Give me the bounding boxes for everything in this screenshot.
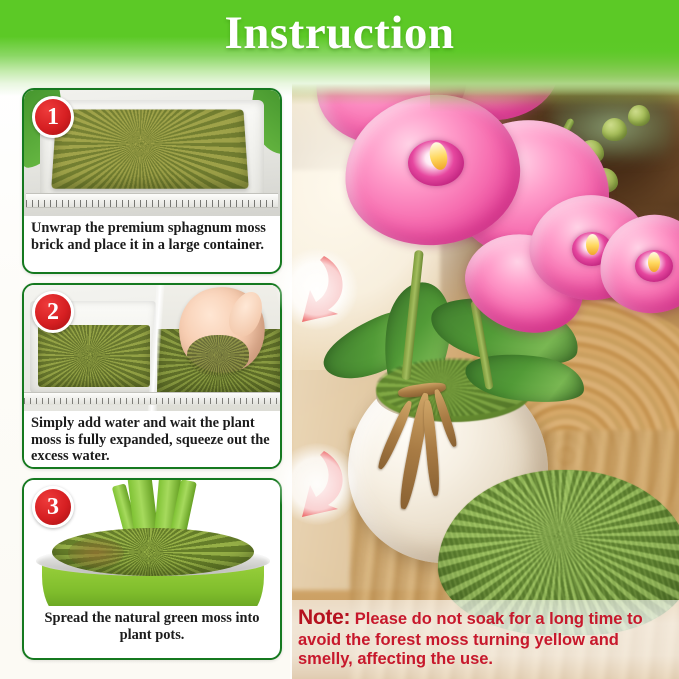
ruler-ticks (26, 200, 278, 207)
step-badge-3: 3 (32, 486, 74, 528)
arrow-glow (276, 443, 358, 525)
step-3-caption: Spread the natural green moss into plant… (24, 606, 280, 646)
step-badge-2: 2 (32, 291, 74, 333)
squeezed-moss-clump (187, 335, 249, 375)
orchid-column (648, 252, 660, 272)
step-arrow-1-to-2 (280, 252, 354, 326)
note-label: Note (298, 606, 343, 629)
flower-bud (602, 118, 627, 141)
arrow-glow (276, 248, 358, 330)
ruler-ticks (24, 398, 280, 404)
instruction-infographic: Instruction Unwrap the premium sphagnum … (0, 0, 679, 679)
step-badge-1: 1 (32, 96, 74, 138)
expanded-moss (38, 325, 150, 387)
moss-brick (51, 109, 248, 188)
note-body: Please do not soak for a long time to av… (298, 610, 643, 668)
moss-brown-patch (68, 538, 124, 568)
step-arrow-2-to-3 (280, 447, 354, 521)
step-2-caption: Simply add water and wait the plant moss… (24, 411, 280, 468)
orchid-column (586, 234, 599, 255)
note-separator: : (343, 606, 350, 629)
note-block: Note: Please do not soak for a long time… (290, 600, 679, 679)
page-title: Instruction (0, 6, 679, 60)
step-1-caption: Unwrap the premium sphagnum moss brick a… (24, 216, 280, 256)
